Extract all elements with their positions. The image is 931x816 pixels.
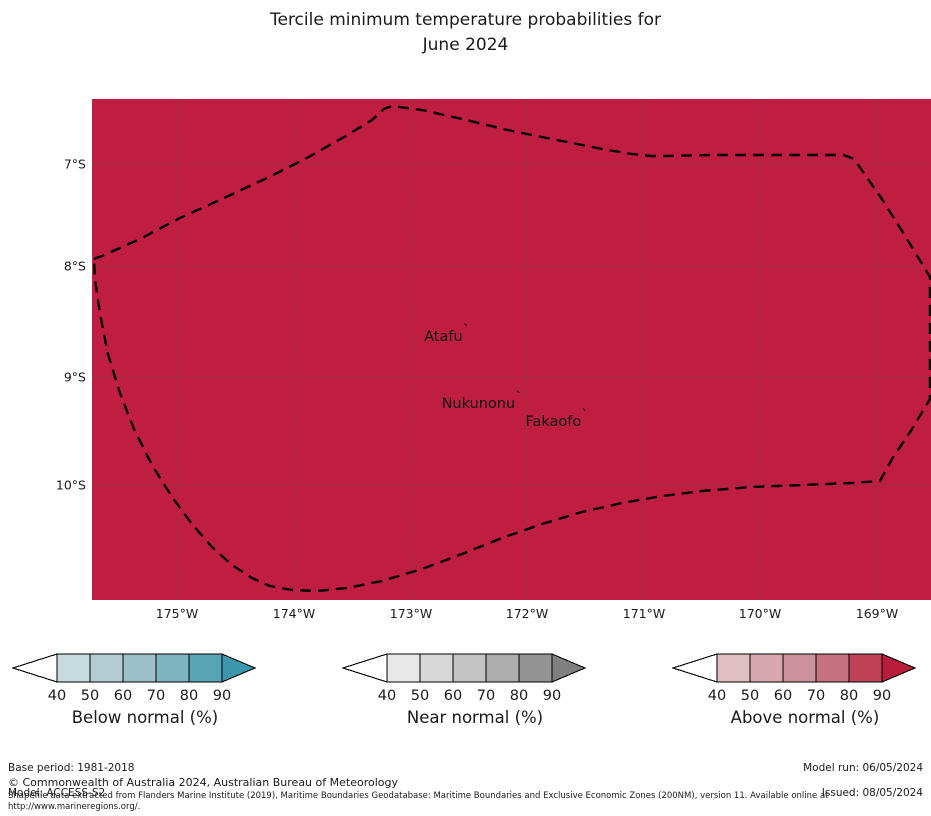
cbar2-cell-4 — [519, 654, 552, 682]
map-gridlines — [92, 99, 931, 600]
colorbar-near-normal-caption: Near normal (%) — [330, 708, 620, 727]
cbar1-tick-50: 50 — [81, 688, 99, 704]
cbar2-cell-0 — [387, 654, 420, 682]
cbar1-tick-90: 90 — [213, 688, 231, 704]
colorbar-above-normal-ticks: 40 50 60 70 80 90 — [660, 688, 931, 708]
y-tick-10s: 10°S — [56, 478, 86, 493]
x-tick-170w: 170°W — [739, 606, 781, 621]
cbar1-cell-3 — [156, 654, 189, 682]
footer-copyright: © Commonwealth of Australia 2024, Austra… — [8, 777, 398, 790]
cbar2-tick-70: 70 — [477, 688, 495, 704]
cbar3-tick-60: 60 — [774, 688, 792, 704]
cbar3-tick-40: 40 — [708, 688, 726, 704]
x-tick-172w: 172°W — [506, 606, 548, 621]
x-tick-171w: 171°W — [623, 606, 665, 621]
cbar3-tick-50: 50 — [741, 688, 759, 704]
place-label-atafu: Atafuˋ — [424, 329, 470, 345]
y-tick-9s: 9°S — [64, 370, 86, 385]
colorbar-near-normal-swatches — [330, 648, 620, 690]
map-overlay — [92, 99, 931, 600]
cbar2-tick-90: 90 — [543, 688, 561, 704]
cbar3-cell-3 — [816, 654, 849, 682]
cbar3-underflow-arrow — [673, 654, 717, 682]
cbar1-cell-4 — [189, 654, 222, 682]
colorbar-below-normal-ticks: 40 50 60 70 80 90 — [0, 688, 290, 708]
cbar1-tick-60: 60 — [114, 688, 132, 704]
x-tick-169w: 169°W — [856, 606, 898, 621]
cbar2-overflow-arrow — [552, 654, 585, 682]
cbar3-cell-2 — [783, 654, 816, 682]
island-marker-icon: ˋ — [515, 390, 522, 406]
place-name-text: Nukunonu — [442, 396, 516, 412]
cbar3-cell-1 — [750, 654, 783, 682]
footer-base-period: Base period: 1981-2018 — [8, 762, 134, 775]
place-name-text: Fakaofo — [525, 414, 581, 430]
eez-boundary — [94, 106, 930, 591]
place-name-text: Atafu — [424, 329, 463, 345]
colorbar-above-normal[interactable]: 40 50 60 70 80 90 Above normal (%) — [660, 648, 931, 748]
cbar1-tick-40: 40 — [48, 688, 66, 704]
cbar1-cell-0 — [57, 654, 90, 682]
cbar1-cell-2 — [123, 654, 156, 682]
colorbar-near-normal-ticks: 40 50 60 70 80 90 — [330, 688, 620, 708]
y-axis-labels: 7°S 8°S 9°S 10°S — [0, 99, 86, 600]
cbar3-tick-70: 70 — [807, 688, 825, 704]
cbar2-tick-40: 40 — [378, 688, 396, 704]
colorbar-above-normal-swatches — [660, 648, 931, 690]
cbar3-tick-90: 90 — [873, 688, 891, 704]
cbar2-cell-3 — [486, 654, 519, 682]
cbar2-cell-2 — [453, 654, 486, 682]
cbar3-tick-80: 80 — [840, 688, 858, 704]
cbar3-cell-4 — [849, 654, 882, 682]
x-tick-174w: 174°W — [273, 606, 315, 621]
page-title: Tercile minimum temperature probabilitie… — [0, 8, 931, 58]
cbar3-overflow-arrow — [882, 654, 915, 682]
x-tick-173w: 173°W — [390, 606, 432, 621]
map-plot-area[interactable]: Atafuˋ Nukunonuˋ Fakaofoˋ — [92, 99, 931, 600]
colorbar-near-normal[interactable]: 40 50 60 70 80 90 Near normal (%) — [330, 648, 620, 748]
y-tick-8s: 8°S — [64, 259, 86, 274]
cbar2-tick-80: 80 — [510, 688, 528, 704]
place-label-nukunonu: Nukunonuˋ — [442, 396, 523, 412]
x-tick-175w: 175°W — [156, 606, 198, 621]
cbar1-tick-80: 80 — [180, 688, 198, 704]
cbar1-cell-1 — [90, 654, 123, 682]
y-tick-7s: 7°S — [64, 157, 86, 172]
footer-source-attribution: Shapefile data extracted from Flanders M… — [8, 791, 829, 812]
colorbar-below-normal-caption: Below normal (%) — [0, 708, 290, 727]
cbar1-overflow-arrow — [222, 654, 255, 682]
cbar3-cell-0 — [717, 654, 750, 682]
cbar2-tick-60: 60 — [444, 688, 462, 704]
place-label-fakaofo: Fakaofoˋ — [525, 414, 588, 430]
colorbar-below-normal[interactable]: 40 50 60 70 80 90 Below normal (%) — [0, 648, 290, 748]
x-axis-labels: 175°W 174°W 173°W 172°W 171°W 170°W 169°… — [92, 606, 931, 626]
cbar1-underflow-arrow — [13, 654, 57, 682]
cbar2-underflow-arrow — [343, 654, 387, 682]
colorbar-above-normal-caption: Above normal (%) — [660, 708, 931, 727]
island-marker-icon: ˋ — [463, 323, 470, 339]
footer-model-run: Model run: 06/05/2024 — [803, 762, 923, 775]
colorbar-below-normal-swatches — [0, 648, 290, 690]
cbar2-tick-50: 50 — [411, 688, 429, 704]
cbar1-tick-70: 70 — [147, 688, 165, 704]
cbar2-cell-1 — [420, 654, 453, 682]
island-marker-icon: ˋ — [581, 408, 588, 424]
